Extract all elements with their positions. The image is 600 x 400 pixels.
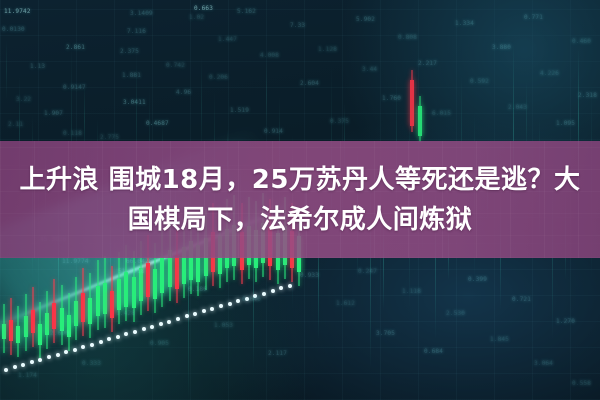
- ticker-value: 1.519: [230, 107, 249, 114]
- ticker-value: 4.008: [260, 52, 279, 59]
- ticker-value: 0.399: [468, 276, 487, 283]
- ticker-value: 0.933: [300, 272, 319, 279]
- ticker-value: 66.0425: [126, 258, 153, 265]
- ticker-value: 2.117: [268, 350, 287, 357]
- ticker-value: 2.043: [508, 104, 527, 111]
- ticker-value: 7.116: [127, 28, 146, 35]
- ticker-value: 1.612: [336, 300, 355, 307]
- ticker-value: 0.592: [470, 78, 489, 85]
- ticker-value: 5.162: [237, 8, 256, 15]
- ticker-value: 0.0130: [2, 26, 25, 33]
- ticker-value: 6.015: [432, 110, 451, 117]
- ticker-value: 1.907: [44, 110, 63, 117]
- ticker-value: 1.02: [189, 14, 204, 21]
- ticker-value: 0.684: [424, 348, 443, 355]
- ticker-value: 0.375: [330, 118, 349, 125]
- ticker-value: 7.33: [290, 22, 305, 29]
- ticker-value: 0.663: [194, 5, 213, 12]
- ticker-value: 51.6918: [118, 268, 145, 275]
- ticker-value: 4.96: [176, 89, 191, 96]
- ticker-value: 1.881: [122, 72, 141, 79]
- ticker-value: 1.447: [218, 36, 237, 43]
- ticker-value: 0.640: [242, 296, 261, 303]
- ticker-value: 1.334: [455, 20, 474, 27]
- ticker-value: 3.22: [16, 96, 31, 103]
- ticker-value: 0.742: [166, 62, 185, 69]
- ticker-value: 1.095: [556, 120, 575, 127]
- headline-line-2: 国棋局下，法希尔成人间炼狱: [128, 200, 473, 240]
- ticker-value: 3.1409: [130, 10, 153, 17]
- headline-banner: 上升浪 围城18月，25万苏丹人等死还是逃？大 国棋局下，法希尔成人间炼狱: [0, 141, 600, 258]
- ticker-value: 0.206: [209, 74, 228, 81]
- ticker-value: 0.9147: [63, 84, 86, 91]
- ticker-value: 0.460: [572, 38, 591, 45]
- ticker-value: 0.905: [150, 340, 169, 347]
- ticker-value: 2.690: [50, 330, 69, 337]
- ticker-value: 2.217: [418, 60, 437, 67]
- ticker-value: 3.880: [492, 44, 511, 51]
- ticker-value: 2.861: [66, 44, 85, 51]
- ticker-value: 0.4687: [146, 120, 169, 127]
- ticker-value: 0.721: [512, 296, 531, 303]
- ticker-value: 0.558: [572, 380, 591, 387]
- ticker-value: 4.226: [540, 70, 559, 77]
- headline-line-1: 上升浪 围城18月，25万苏丹人等死还是逃？大: [20, 160, 581, 200]
- ticker-value: 1.270: [556, 318, 575, 325]
- ticker-value: 0.186: [188, 286, 207, 293]
- ticker-value: 0.808: [398, 34, 417, 41]
- ticker-value: 1.053: [214, 322, 233, 329]
- ticker-value: 1.845: [490, 336, 509, 343]
- ticker-value: 0.333: [82, 360, 101, 367]
- ticker-value: 2.775: [100, 134, 119, 141]
- ticker-value: 2.530: [446, 310, 465, 317]
- ticker-value: 1.13: [30, 63, 45, 70]
- ticker-value: 2.11: [8, 121, 23, 128]
- ticker-value: 2.375: [120, 48, 139, 55]
- ticker-value: 1.760: [382, 95, 401, 102]
- ticker-value: 1.428: [116, 310, 135, 317]
- ticker-value: 0.771: [524, 14, 543, 21]
- ticker-value: 2.604: [300, 80, 319, 87]
- ticker-value: 5.902: [356, 16, 375, 23]
- ticker-value: 0.914: [264, 128, 283, 135]
- ticker-value: 1.128: [318, 46, 337, 53]
- ticker-value: 11.9742: [4, 8, 31, 15]
- ticker-value: 3.705: [376, 330, 395, 337]
- ticker-value: 0.247: [358, 268, 377, 275]
- ticker-value: 11.9774: [62, 258, 89, 265]
- ticker-value: 3.0411: [123, 99, 146, 106]
- ticker-value: 1.174: [18, 372, 37, 379]
- ticker-value: 1.118: [402, 288, 421, 295]
- ticker-value: 0.118: [63, 130, 82, 137]
- ticker-value: 3.064: [534, 360, 553, 367]
- ticker-value: 3.44: [362, 66, 377, 73]
- thumbnail-canvas: 11.97420.01302.8611.130.91473.221.9072.1…: [0, 0, 600, 400]
- ticker-value: 2.318: [578, 92, 597, 99]
